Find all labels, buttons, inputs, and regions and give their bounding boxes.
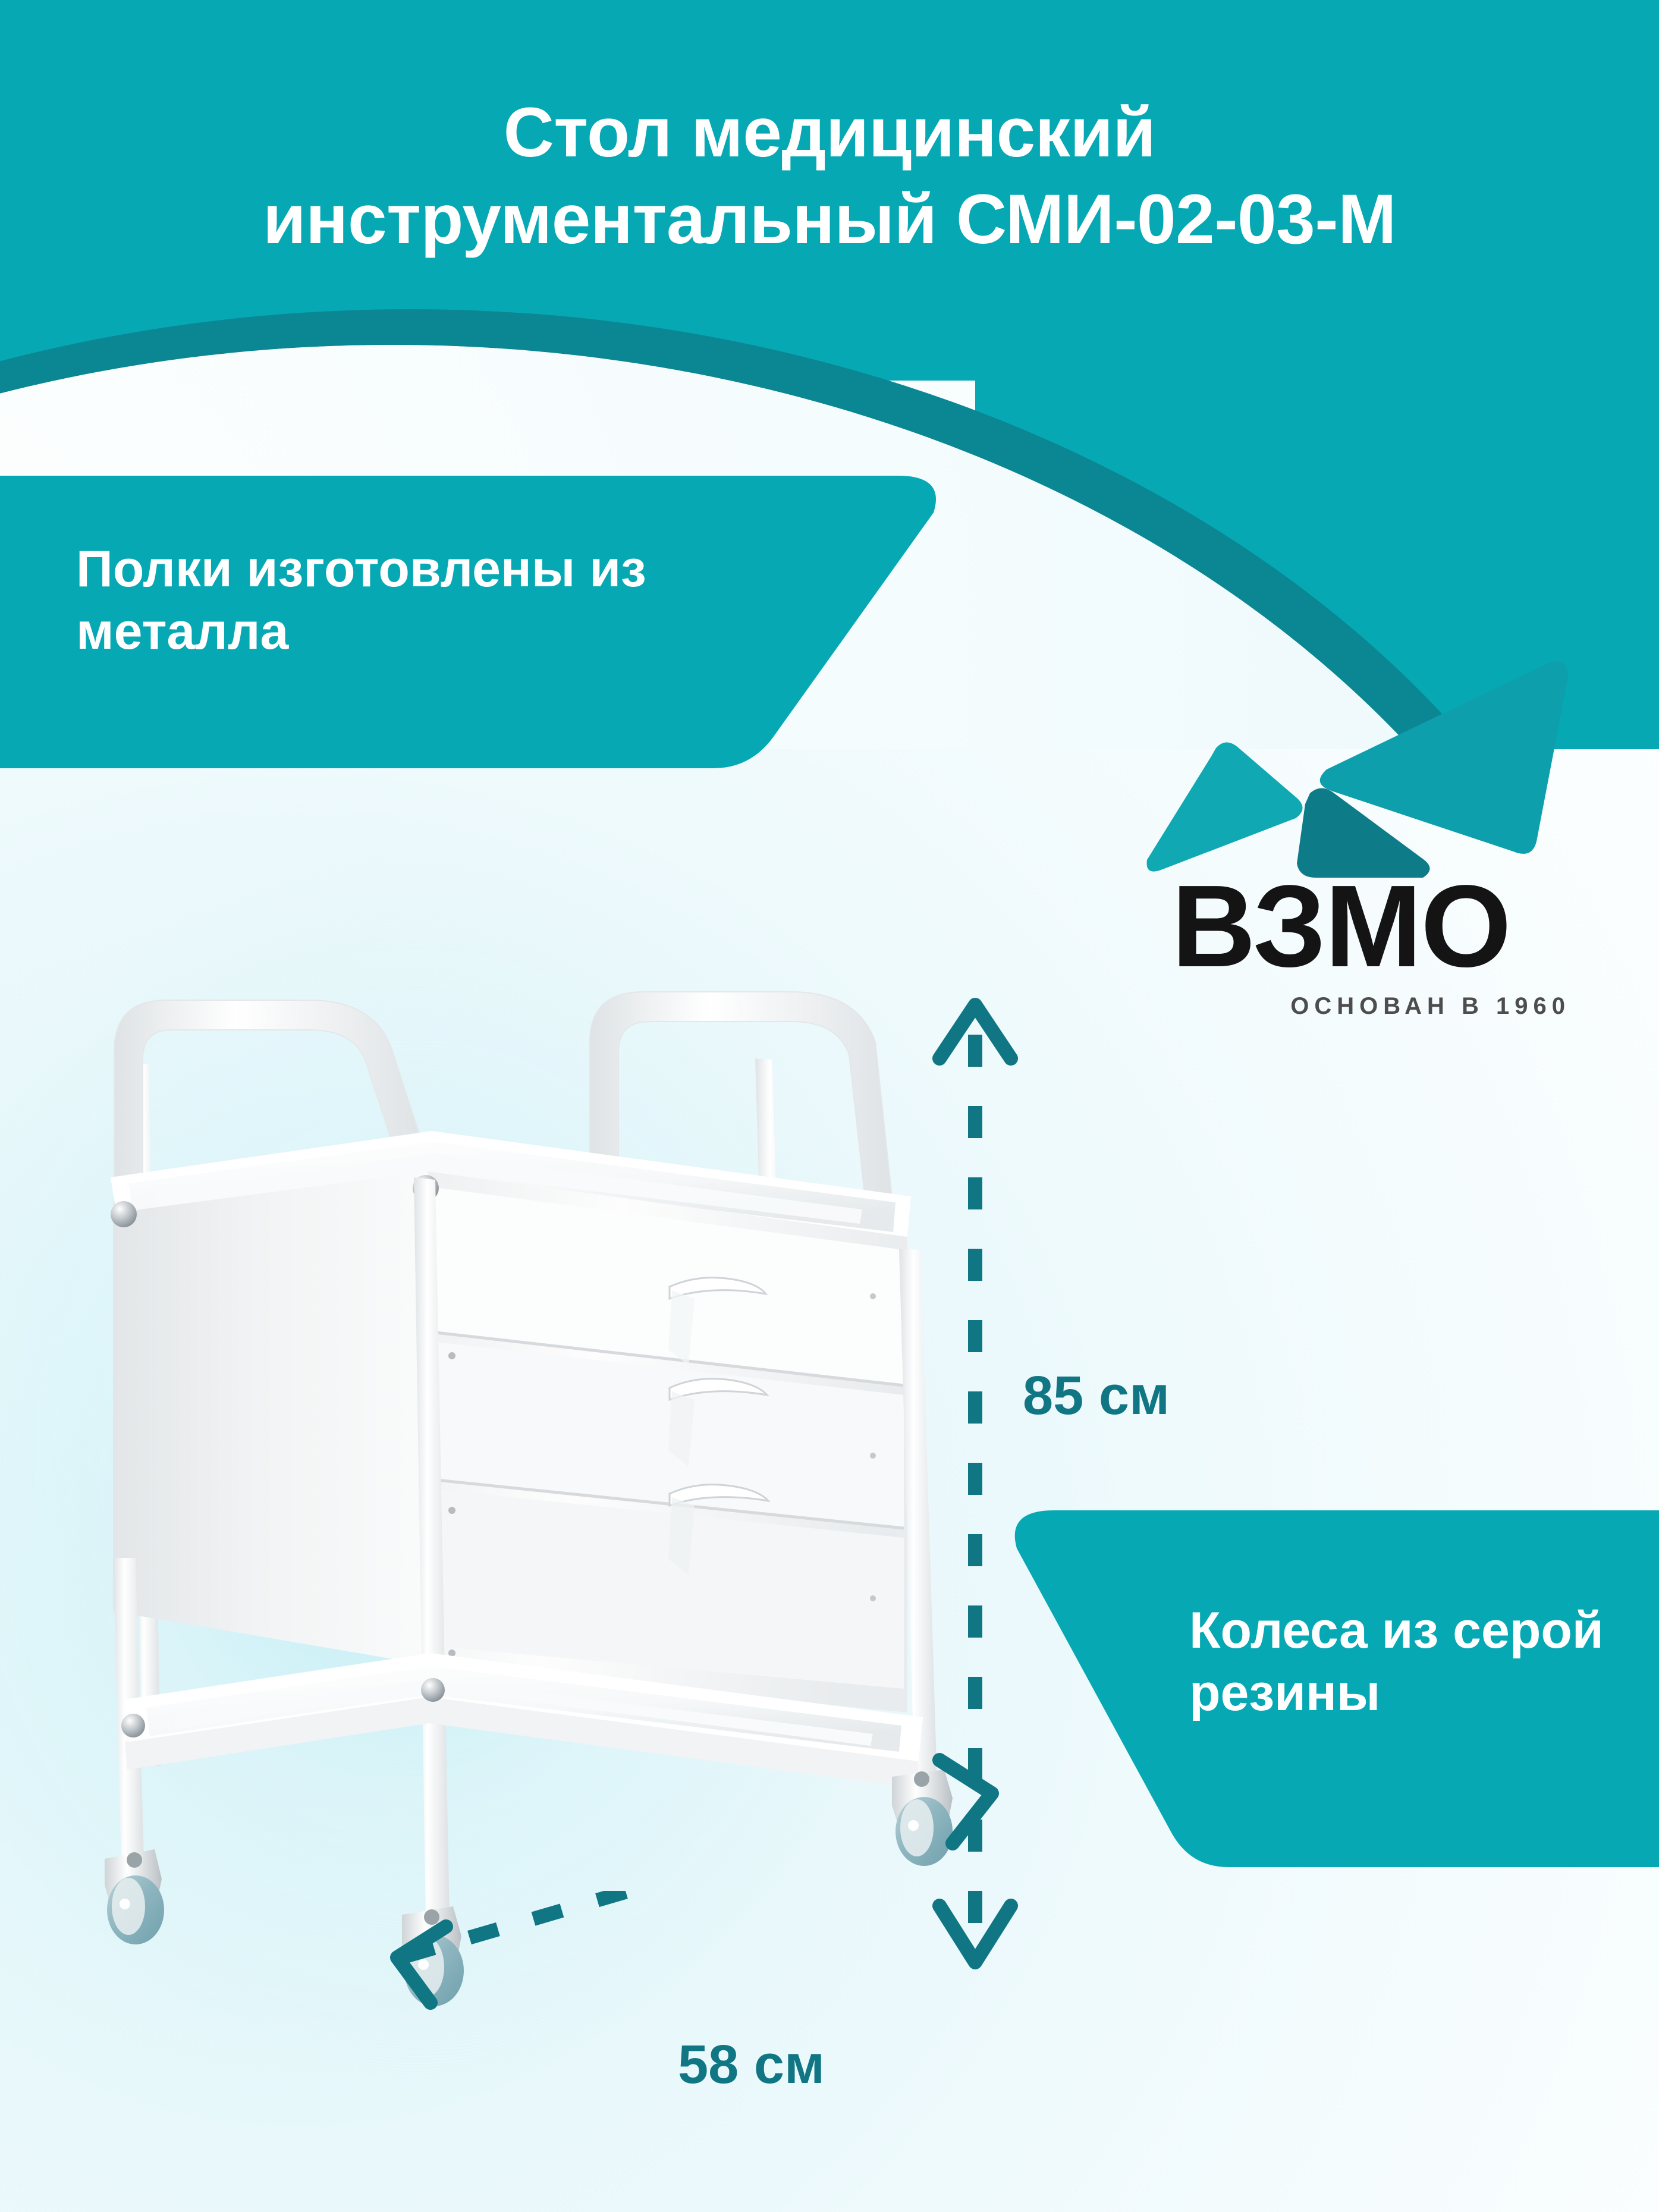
page-title-line-2: инструментальный СМИ-02-03-М [89, 176, 1570, 263]
arrow-head-left-icon [397, 1927, 446, 2003]
callout-shelves: Полки изготовлены из металла [0, 476, 951, 768]
cart-cabinet-side-panel [113, 1171, 428, 1665]
brand-logo: ВЗМО ОСНОВАН В 1960 [1103, 642, 1603, 1023]
cart-rivet-2 [448, 1507, 455, 1514]
cart-bolt-shelf-left [121, 1714, 145, 1737]
cart-bolt-shelf-mid [421, 1678, 445, 1702]
cart-rivet-6 [870, 1595, 876, 1601]
callout-shelves-label: Полки изготовлены из металла [76, 538, 706, 663]
dimension-width-arrow [369, 1891, 1029, 2141]
cart-rivet-1 [448, 1352, 455, 1359]
dimension-width [369, 1891, 1029, 2141]
dimension-width-dashed-line [406, 1891, 991, 1956]
cart-rivet-5 [870, 1453, 876, 1459]
cart-caster-left [105, 1849, 164, 1944]
page-title: Стол медицинский инструментальный СМИ-02… [0, 89, 1659, 263]
callout-wheels: Колеса из серой резины [999, 1510, 1659, 1879]
product-image-medical-cart [71, 975, 987, 2051]
vzmo-chevron-mark-icon [1121, 642, 1597, 880]
cart-bolt-top-left [111, 1201, 137, 1227]
medical-cart-drawing [71, 975, 987, 2051]
arrow-head-right-icon [940, 1760, 992, 1843]
logo-tagline: ОСНОВАН В 1960 [1103, 993, 1579, 1020]
infographic-canvas: Стол медицинский инструментальный СМИ-02… [0, 0, 1659, 2212]
cart-rivet-4 [870, 1293, 876, 1299]
logo-wordmark: ВЗМО [1103, 868, 1579, 985]
dimension-width-label: 58 см [678, 2034, 825, 2096]
page-title-line-1: Стол медицинский [89, 89, 1570, 176]
callout-wheels-label: Колеса из серой резины [1189, 1600, 1659, 1724]
dimension-height-label: 85 см [1023, 1365, 1170, 1427]
